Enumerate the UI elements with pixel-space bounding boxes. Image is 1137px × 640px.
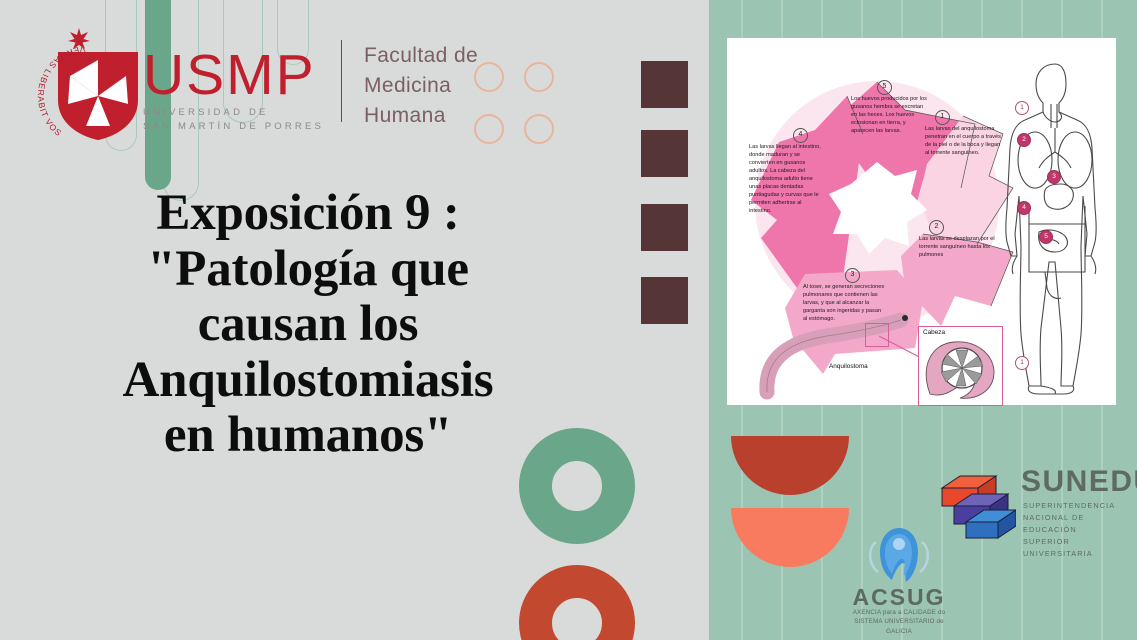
hookworm-head-illustration (920, 338, 999, 402)
usmp-star-icon (68, 28, 90, 50)
sunedu-name: SUNEDU (1021, 465, 1137, 499)
presentation-slide: VERITAS LIBERABIT VOS USMP UNIVERSIDAD D… (0, 0, 1137, 640)
step-text-1: Las larvas del anquilostoma penetran en … (925, 126, 1005, 158)
usmp-wordmark: USMP UNIVERSIDAD DE SAN MARTÍN DE PORRES (143, 48, 324, 135)
step-number-5: 5 (877, 80, 892, 95)
head-caption: Cabeza (923, 329, 945, 336)
svg-text:VERITAS LIBERABIT VOS: VERITAS LIBERABIT VOS (36, 44, 86, 138)
step-text-5: Los huevos producidos por los gusanos he… (851, 96, 929, 136)
decorative-square (641, 61, 688, 108)
usmp-logo: VERITAS LIBERABIT VOS USMP UNIVERSIDAD D… (18, 26, 338, 146)
body-marker-2: 2 (1017, 133, 1031, 147)
sunedu-subtitle: SUPERINTENDENCIA NACIONAL DE EDUCACIÓN S… (1023, 500, 1128, 560)
title-line-2: "Patología que (28, 242, 588, 298)
decorative-rings (474, 62, 564, 152)
body-marker-5: 5 (1039, 230, 1053, 244)
step-text-4: Las larvas llegan al intestino, donde ma… (749, 144, 823, 215)
faculty-name: Facultad de Medicina Humana (364, 41, 478, 130)
step-text-2: Las larvas se desplazan por el torrente … (919, 236, 1003, 260)
acsug-emblem-icon (862, 524, 936, 586)
usmp-motto-text: VERITAS LIBERABIT VOS (32, 40, 144, 152)
acsug-name: ACSUG (828, 584, 970, 611)
logo-divider (341, 40, 342, 122)
decorative-donut-green (519, 428, 635, 544)
worm-caption: Anquilostoma (829, 363, 868, 370)
acsug-subtitle: AXENCIA para a CALIDADE do SISTEMA UNIVE… (828, 608, 970, 636)
body-marker-1: 1 (1015, 101, 1029, 115)
decorative-donut-red (519, 565, 635, 640)
step-number-4: 4 (793, 128, 808, 143)
decorative-square (641, 130, 688, 177)
step-number-3: 3 (845, 268, 860, 283)
acsug-logo: ACSUG AXENCIA para a CALIDADE do SISTEMA… (828, 524, 970, 636)
lifecycle-diagram-card: 5 Los huevos producidos por los gusanos … (727, 38, 1116, 405)
body-marker-4: 4 (1017, 201, 1031, 215)
usmp-acronym: USMP (143, 48, 324, 102)
decorative-square (641, 204, 688, 251)
usmp-university-name: UNIVERSIDAD DE SAN MARTÍN DE PORRES (143, 106, 324, 135)
title-line-3: causan los (28, 297, 588, 353)
title-line-4: Anquilostomiasis (28, 353, 588, 409)
body-marker-3: 3 (1047, 170, 1061, 184)
step-number-2: 2 (929, 220, 944, 235)
decorative-square (641, 277, 688, 324)
title-line-1: Exposición 9 : (28, 186, 588, 242)
step-number-1: 1 (935, 110, 950, 125)
body-marker-6: 1 (1015, 356, 1029, 370)
title-line-5: en humanos" (28, 408, 588, 464)
slide-title: Exposición 9 : "Patología que causan los… (28, 186, 588, 464)
